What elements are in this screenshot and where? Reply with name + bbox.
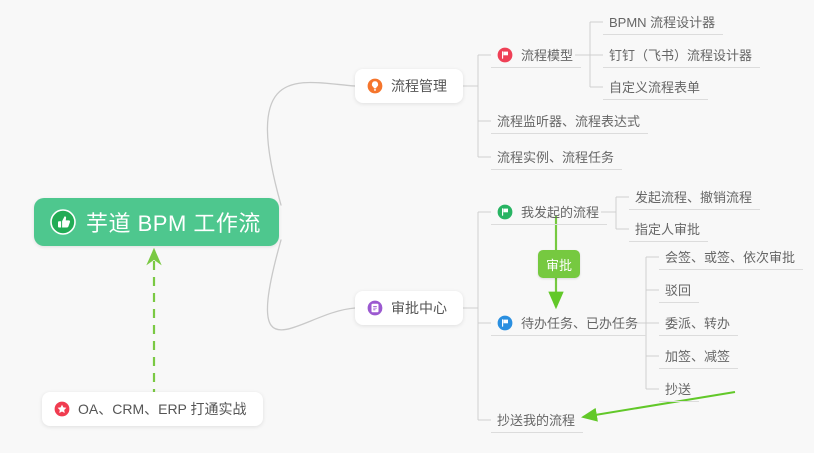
node-assignee-approval-label: 指定人审批	[635, 219, 700, 238]
node-countersign-approval-label: 会签、或签、依次审批	[665, 247, 795, 266]
flag-blue-icon	[497, 315, 513, 331]
flag-green-icon	[497, 204, 513, 220]
node-delegate-transfer-label: 委派、转办	[665, 313, 730, 332]
node-my-initiated-processes[interactable]: 我发起的流程	[491, 199, 607, 225]
node-cc-label: 抄送	[665, 379, 691, 398]
node-start-cancel-process[interactable]: 发起流程、撤销流程	[629, 184, 760, 210]
node-add-remove-sign-label: 加签、减签	[665, 346, 730, 365]
node-cc[interactable]: 抄送	[659, 376, 699, 402]
star-icon	[54, 401, 70, 417]
clipboard-icon	[367, 300, 383, 316]
branch-approval-center[interactable]: 审批中心	[355, 291, 463, 325]
node-bpmn-designer-label: BPMN 流程设计器	[609, 12, 715, 31]
node-process-instance-task-label: 流程实例、流程任务	[497, 147, 614, 166]
side-note-node[interactable]: OA、CRM、ERP 打通实战	[42, 392, 263, 426]
lightbulb-icon	[367, 78, 383, 94]
node-countersign-approval[interactable]: 会签、或签、依次审批	[659, 244, 803, 270]
node-custom-process-form-label: 自定义流程表单	[609, 77, 700, 96]
side-note-label: OA、CRM、ERP 打通实战	[78, 399, 247, 419]
node-reject[interactable]: 驳回	[659, 277, 699, 303]
approval-badge-label: 审批	[546, 255, 572, 274]
node-bpmn-designer[interactable]: BPMN 流程设计器	[603, 9, 723, 35]
branch-approval-center-label: 审批中心	[391, 298, 447, 318]
branch-process-management-label: 流程管理	[391, 76, 447, 96]
node-todo-done-tasks-label: 待办任务、已办任务	[521, 313, 638, 332]
node-start-cancel-process-label: 发起流程、撤销流程	[635, 187, 752, 206]
node-assignee-approval[interactable]: 指定人审批	[629, 216, 708, 242]
node-cc-to-me-processes[interactable]: 抄送我的流程	[491, 407, 583, 433]
node-process-model[interactable]: 流程模型	[491, 42, 581, 68]
node-process-instance-task[interactable]: 流程实例、流程任务	[491, 144, 622, 170]
node-process-listener-expression[interactable]: 流程监听器、流程表达式	[491, 108, 648, 134]
node-delegate-transfer[interactable]: 委派、转办	[659, 310, 738, 336]
node-todo-done-tasks[interactable]: 待办任务、已办任务	[491, 310, 646, 336]
node-add-remove-sign[interactable]: 加签、减签	[659, 343, 738, 369]
branch-process-management[interactable]: 流程管理	[355, 69, 463, 103]
root-node[interactable]: 芋道 BPM 工作流	[34, 198, 279, 246]
node-dingtalk-feishu-designer-label: 钉钉（飞书）流程设计器	[609, 45, 752, 64]
thumbs-up-icon	[50, 209, 76, 235]
node-custom-process-form[interactable]: 自定义流程表单	[603, 74, 708, 100]
node-cc-to-me-processes-label: 抄送我的流程	[497, 410, 575, 429]
node-my-initiated-processes-label: 我发起的流程	[521, 202, 599, 221]
node-process-listener-expression-label: 流程监听器、流程表达式	[497, 111, 640, 130]
node-process-model-label: 流程模型	[521, 45, 573, 64]
flag-red-icon	[497, 47, 513, 63]
root-label: 芋道 BPM 工作流	[86, 206, 261, 238]
approval-badge: 审批	[538, 250, 580, 278]
node-reject-label: 驳回	[665, 280, 691, 299]
node-dingtalk-feishu-designer[interactable]: 钉钉（飞书）流程设计器	[603, 42, 760, 68]
mindmap-canvas: 芋道 BPM 工作流 OA、CRM、ERP 打通实战 流程管理	[0, 0, 814, 453]
